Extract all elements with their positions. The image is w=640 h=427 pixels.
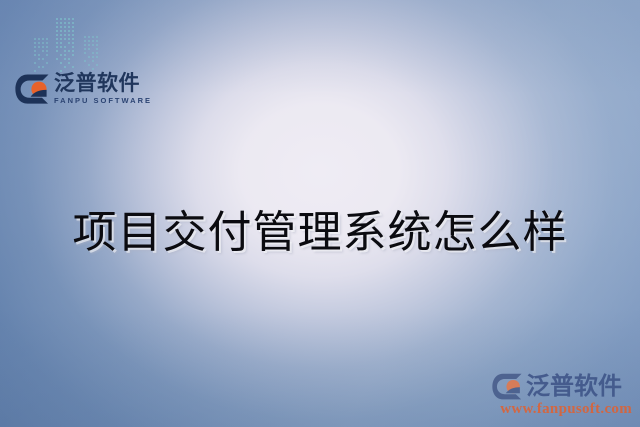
watermark-url: www.fanpusoft.com: [492, 402, 632, 417]
brand-name-en: FANPU SOFTWARE: [54, 97, 152, 105]
brand-name-cn: 泛普软件: [54, 73, 152, 95]
watermark-logo-row: 泛普软件: [492, 373, 632, 400]
fanpu-logo-icon: [492, 373, 522, 400]
brand-lockup: 泛普软件 FANPU SOFTWARE: [15, 73, 152, 105]
watermark-name-cn: 泛普软件: [526, 375, 622, 399]
brand-wordmark: 泛普软件 FANPU SOFTWARE: [54, 73, 152, 105]
pixel-skyline-icon: [26, 12, 110, 80]
poster-canvas: 泛普软件 FANPU SOFTWARE 项目交付管理系统怎么样 泛普软件 www…: [0, 0, 640, 427]
page-title: 项目交付管理系统怎么样: [0, 196, 640, 260]
fanpu-logo-icon: [15, 74, 49, 104]
watermark: 泛普软件 www.fanpusoft.com: [492, 373, 632, 417]
